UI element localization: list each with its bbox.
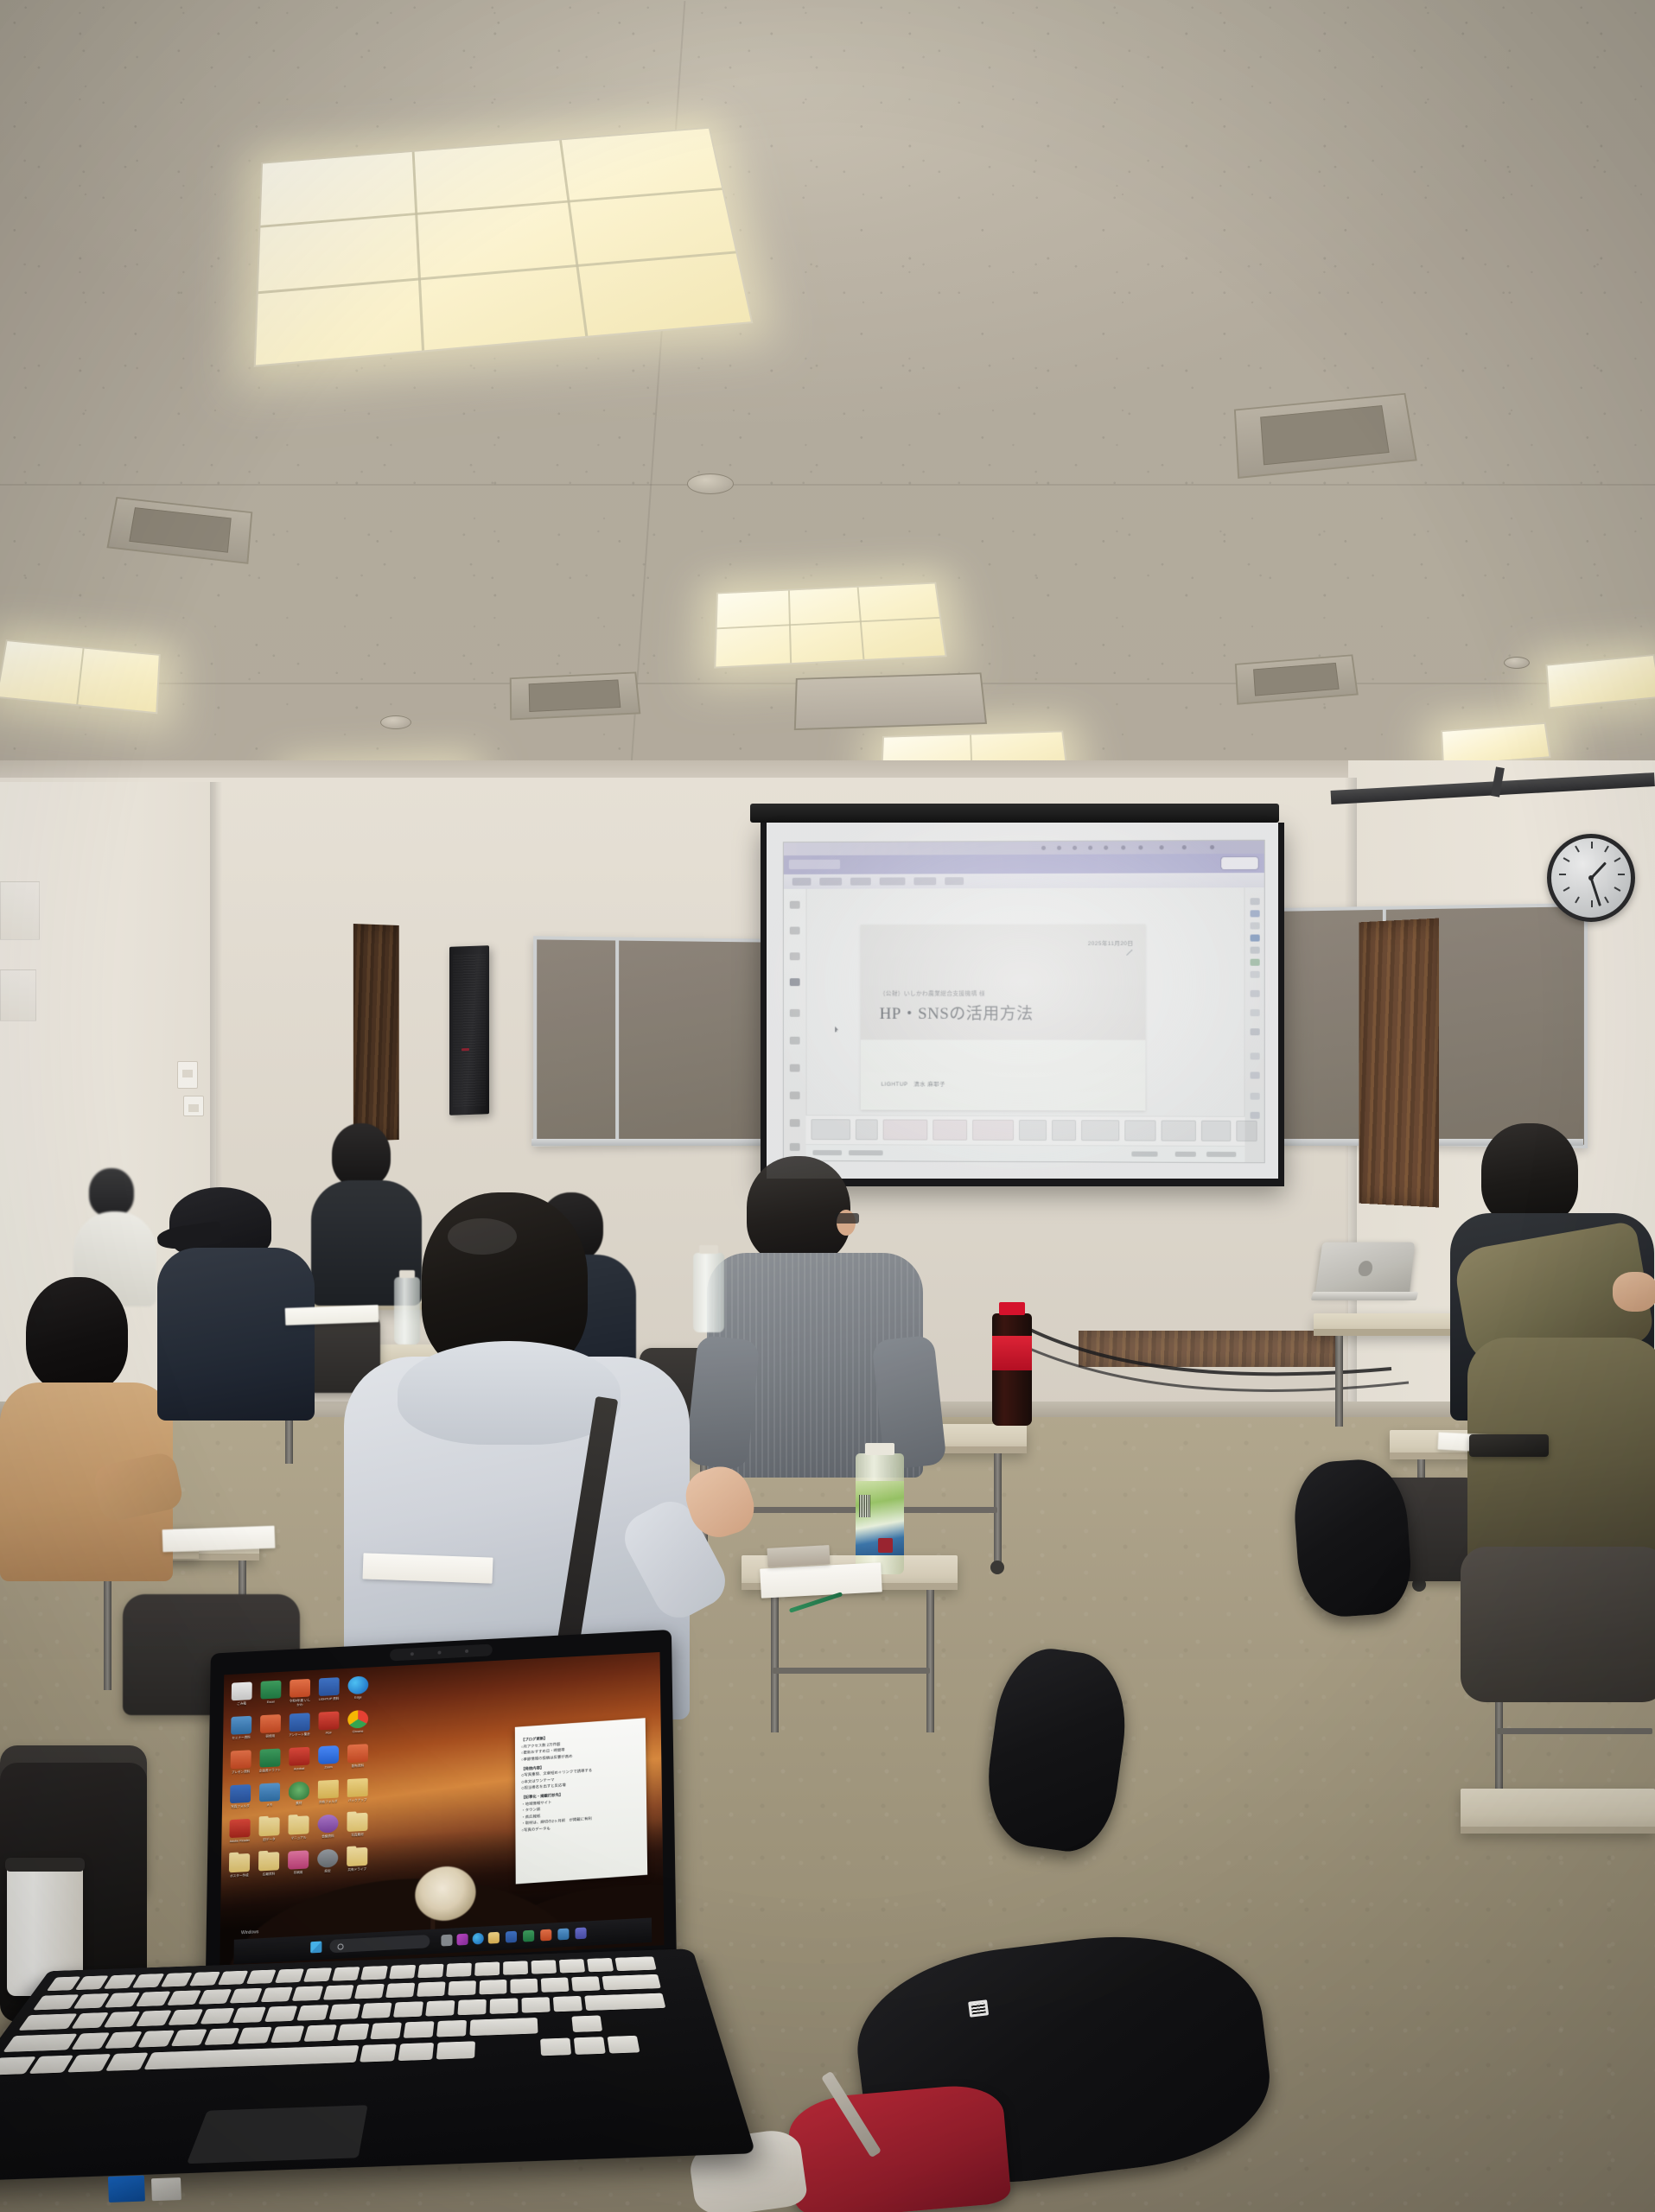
desktop-icon[interactable]: Zoom xyxy=(317,1745,340,1770)
desktop-icon[interactable]: 研修用 xyxy=(259,1714,282,1739)
ribbon-command[interactable] xyxy=(883,1119,928,1140)
powerpoint-logo-badge xyxy=(789,860,840,869)
key[interactable] xyxy=(510,1979,538,1993)
desktop-icon[interactable]: メモ xyxy=(258,1783,281,1808)
thumbnail-icon[interactable] xyxy=(790,901,800,909)
key-enter[interactable] xyxy=(584,1993,665,2011)
desktop-icon-glyph-tree xyxy=(289,1781,309,1800)
key-arrow-up[interactable] xyxy=(571,2015,602,2032)
webcam-lens-icon xyxy=(411,1652,414,1656)
key[interactable] xyxy=(264,2005,297,2022)
desktop-icon[interactable]: PDF xyxy=(317,1711,340,1736)
projection-screen: 2025年11月20日 （公財）いしかわ農業総合支援機構 様 HP・SNSの活用… xyxy=(761,823,1284,1186)
key-alt-right[interactable] xyxy=(360,2044,397,2062)
key[interactable] xyxy=(559,1959,585,1973)
desktop-sticky-note[interactable]: 【ブログ更新】○月アクセス数 2万件超○更新おすすめ日・時間帯○季節情報の投稿は… xyxy=(515,1718,647,1884)
key[interactable] xyxy=(337,2024,370,2041)
key[interactable] xyxy=(541,1977,570,1992)
torso xyxy=(157,1248,315,1421)
desktop-icon-label: PDF xyxy=(317,1731,340,1736)
clock-tick xyxy=(1604,896,1609,903)
webcam-indicator-icon xyxy=(437,1651,441,1655)
ribbon-tab[interactable] xyxy=(792,878,812,886)
key[interactable] xyxy=(136,1992,171,2007)
green-tea-bottle xyxy=(856,1453,904,1574)
key[interactable] xyxy=(404,2021,435,2038)
key[interactable] xyxy=(571,1976,601,1991)
powerpoint-workspace: 2025年11月20日 （公財）いしかわ農業総合支援機構 様 HP・SNSの活用… xyxy=(784,887,1264,1162)
water-bottle-2 xyxy=(394,1277,420,1344)
tool-swatch[interactable] xyxy=(1251,1028,1260,1035)
tool-swatch[interactable] xyxy=(1251,898,1260,905)
tool-swatch[interactable] xyxy=(1251,1009,1260,1016)
key[interactable] xyxy=(161,1973,193,1987)
desktop-icon[interactable]: Adobe Reader xyxy=(228,1819,251,1844)
key[interactable] xyxy=(104,2012,141,2028)
ribbon-command[interactable] xyxy=(1162,1121,1196,1141)
key[interactable] xyxy=(167,1990,201,2005)
ceiling-smoke-detector xyxy=(380,715,411,729)
key[interactable] xyxy=(448,1980,476,1995)
key[interactable] xyxy=(271,2025,304,2043)
presenter-macbook xyxy=(1312,1242,1417,1313)
key[interactable] xyxy=(33,1994,80,2010)
key[interactable] xyxy=(238,2027,272,2044)
desktop-icon-glyph-yellowdoc xyxy=(347,1778,368,1797)
desktop-icon[interactable]: Chrome xyxy=(347,1710,369,1735)
desk-support-rail xyxy=(1497,1728,1652,1734)
clock-tick xyxy=(1604,846,1609,853)
desktop-icon-glyph-ppt xyxy=(260,1714,281,1733)
desktop-icon[interactable]: 写真フォルダ xyxy=(229,1784,251,1809)
status-item xyxy=(849,1150,883,1155)
tab-dot xyxy=(1057,846,1061,850)
mouse-cursor-icon xyxy=(835,1027,838,1033)
key[interactable] xyxy=(417,1964,443,1978)
label-seal xyxy=(878,1538,893,1553)
key[interactable] xyxy=(200,2008,234,2024)
sticky-note-body: 【ブログ更新】○月アクセス数 2万件超○更新おすすめ日・時間帯○季節情報の投稿は… xyxy=(521,1730,641,1834)
desktop-icon-label: 配布資料 xyxy=(347,1764,369,1769)
leg xyxy=(1461,1547,1655,1702)
wall-speaker-column xyxy=(449,945,489,1116)
tab-dot xyxy=(1182,845,1187,849)
key[interactable] xyxy=(425,2000,455,2017)
key[interactable] xyxy=(587,1958,614,1972)
key[interactable] xyxy=(204,2028,239,2045)
key[interactable] xyxy=(490,1998,519,2013)
key-ctrl-right[interactable] xyxy=(436,2041,475,2059)
desktop-icon-glyph-pdf xyxy=(229,1819,250,1838)
clock-tick xyxy=(1563,857,1570,862)
macbook-lid xyxy=(1315,1243,1416,1295)
desktop-icon-label: 素材 xyxy=(288,1801,310,1806)
cola-label xyxy=(992,1336,1032,1370)
desktop-icon[interactable]: マニュアル xyxy=(287,1815,309,1840)
app-icon-teams[interactable] xyxy=(575,1927,586,1939)
windows-watermark: Windows xyxy=(241,1929,259,1935)
ribbon-tabs[interactable] xyxy=(784,873,1264,889)
app-icon-excel[interactable] xyxy=(523,1930,534,1942)
desktop-icon[interactable]: 広報資料 xyxy=(258,1852,280,1877)
desktop-icon-glyph-folder xyxy=(229,1853,250,1872)
desktop-icon[interactable]: 共有ドライブ xyxy=(346,1847,368,1872)
desktop-icon-label: Edge xyxy=(347,1695,369,1700)
ribbon-command[interactable] xyxy=(1201,1121,1231,1141)
ac-vent xyxy=(510,672,641,721)
desk-leg xyxy=(1335,1336,1343,1427)
key-win[interactable] xyxy=(67,2054,111,2072)
desktop-icon[interactable]: Edge xyxy=(347,1675,369,1700)
head xyxy=(26,1277,128,1393)
key[interactable] xyxy=(398,2043,434,2061)
desktop-icon[interactable]: プレゼン資料 xyxy=(229,1750,251,1775)
laptop-screen[interactable]: ごみ箱Excel令和6年度 いしかわLIGHTUP 資料Edgeセミナー資料研修… xyxy=(220,1652,664,1968)
tab-dot xyxy=(1138,845,1143,849)
key-arrow-left[interactable] xyxy=(540,2037,571,2056)
tool-swatch[interactable] xyxy=(1251,990,1260,997)
key[interactable] xyxy=(328,2004,360,2020)
ribbon-command-strip[interactable] xyxy=(806,1115,1245,1147)
hair-highlight xyxy=(448,1218,517,1255)
desktop-icon-glyph-excel xyxy=(260,1681,281,1700)
key[interactable] xyxy=(332,1967,360,1981)
ribbon-command[interactable] xyxy=(1052,1120,1076,1141)
desktop-icon-glyph-zoom xyxy=(318,1745,339,1764)
key-space[interactable] xyxy=(143,2045,359,2069)
ribbon-command[interactable] xyxy=(933,1120,967,1141)
desktop-icon-glyph-yellowdoc xyxy=(318,1780,339,1799)
clock-tick xyxy=(1591,842,1593,849)
clock-tick xyxy=(1563,887,1570,892)
notebook[interactable] xyxy=(767,1545,830,1567)
ribbon-command[interactable] xyxy=(811,1119,850,1140)
key[interactable] xyxy=(323,1985,354,2000)
bottle-cap xyxy=(865,1443,894,1455)
desktop-icon[interactable]: バックアップ xyxy=(347,1778,369,1803)
thumbnail-icon[interactable] xyxy=(790,1065,800,1072)
desktop-icon-glyph-pdf xyxy=(318,1711,339,1730)
hand xyxy=(1613,1272,1655,1312)
desktop-icon-glyph-ppt xyxy=(290,1679,310,1698)
tool-swatch[interactable] xyxy=(1251,935,1260,942)
wall-access-panel xyxy=(0,969,36,1021)
desktop-icon[interactable]: 素材 xyxy=(288,1781,310,1806)
thumbnail-icon-selected[interactable] xyxy=(790,978,800,986)
app-icon-explorer[interactable] xyxy=(488,1932,500,1944)
thumbnail-icon[interactable] xyxy=(790,1009,800,1017)
desktop-icon-glyph-ppt xyxy=(347,1744,368,1763)
tool-swatch[interactable] xyxy=(1251,1071,1260,1078)
slide-presenter: LIGHTUP 清水 麻耶子 xyxy=(882,1080,945,1088)
desktop-icon[interactable]: 配布資料 xyxy=(347,1744,369,1769)
north-face-logo-icon xyxy=(968,1999,989,2018)
desktop-icon[interactable]: ごみ箱 xyxy=(231,1681,253,1706)
desk-support-rail xyxy=(773,1668,930,1674)
handout-paper[interactable] xyxy=(363,1553,493,1583)
laptop-lid: ごみ箱Excel令和6年度 いしかわLIGHTUP 資料Edgeセミナー資料研修… xyxy=(206,1630,678,1999)
desktop-icon-glyph-purple xyxy=(317,1815,338,1834)
key[interactable] xyxy=(261,1987,293,2003)
slide-thumbnail-rail[interactable] xyxy=(784,889,807,1160)
board-chalk-tray xyxy=(532,1139,763,1146)
key[interactable] xyxy=(354,1984,385,1999)
app-icon-mail[interactable] xyxy=(557,1929,569,1941)
powerpoint-title-bar xyxy=(784,854,1264,874)
key-arrow-right[interactable] xyxy=(608,2036,640,2054)
desktop-icon[interactable]: 会議資料 xyxy=(316,1814,339,1839)
wall-access-panel xyxy=(0,881,40,940)
desktop-icon-label: Acrobat xyxy=(288,1766,310,1771)
desktop-icon[interactable]: 令和6年度 いしかわ xyxy=(289,1679,311,1707)
key[interactable] xyxy=(385,1983,415,1999)
key[interactable] xyxy=(521,1997,550,2012)
ribbon-command[interactable] xyxy=(1081,1120,1119,1141)
ribbon-tab[interactable] xyxy=(880,877,906,885)
desktop-icon[interactable]: セミナー資料 xyxy=(230,1716,252,1741)
tool-swatch[interactable] xyxy=(1251,910,1260,917)
desktop-icon[interactable]: 企画書ドラフト xyxy=(258,1748,281,1773)
clock-tick xyxy=(1614,887,1620,892)
light-cell xyxy=(258,251,736,295)
key[interactable] xyxy=(275,1968,304,1983)
clock-tick xyxy=(1618,874,1625,875)
key[interactable] xyxy=(303,2024,337,2042)
label-barcode xyxy=(859,1495,870,1517)
key[interactable] xyxy=(370,2022,402,2039)
tab-dot xyxy=(1104,846,1108,850)
desktop-icon-glyph-blue xyxy=(259,1783,280,1802)
key[interactable] xyxy=(232,2007,266,2024)
desktop-icon-glyph-word xyxy=(290,1713,310,1732)
key[interactable] xyxy=(136,2010,172,2026)
red-bag xyxy=(786,2082,1011,2212)
wood-panel-side xyxy=(353,924,399,1141)
desktop-icon-glyph-folder xyxy=(258,1852,279,1871)
desk-bottom-right xyxy=(1461,1789,1655,1834)
thumbnail-icon[interactable] xyxy=(790,927,800,935)
head xyxy=(332,1123,391,1187)
vent-grille xyxy=(129,507,231,553)
desktop-icon-glyph-folder xyxy=(258,1817,279,1836)
desktop-icon-glyph-gray xyxy=(317,1849,338,1868)
desktop-icon[interactable]: LIGHTUP 資料 xyxy=(318,1677,341,1701)
key[interactable] xyxy=(18,2013,77,2031)
key[interactable] xyxy=(389,1965,416,1980)
tool-swatch[interactable] xyxy=(1251,959,1260,966)
desktop-icon-glyph-folder xyxy=(347,1847,367,1866)
desktop-icon[interactable]: Acrobat xyxy=(288,1747,310,1772)
head xyxy=(1481,1123,1578,1225)
key[interactable] xyxy=(417,1981,445,1997)
webcam-mic-icon xyxy=(465,1649,468,1653)
ceiling-light-panel xyxy=(714,582,947,669)
desktop-icon-label: Chrome xyxy=(347,1729,369,1734)
key-shift-right[interactable] xyxy=(469,2018,538,2036)
thumbnail-icon[interactable] xyxy=(790,952,800,960)
wall-clock xyxy=(1547,834,1635,922)
slide-client-line: （公財）いしかわ農業総合支援機構 様 xyxy=(880,988,985,997)
key[interactable] xyxy=(105,1993,140,2008)
glasses-icon xyxy=(835,1213,859,1224)
tab-dot xyxy=(1121,846,1125,850)
tab-dot xyxy=(1210,845,1214,849)
ribbon-command[interactable] xyxy=(1124,1120,1155,1141)
ribbon-command[interactable] xyxy=(1236,1121,1257,1141)
desktop-icon-glyph-folder xyxy=(347,1813,367,1832)
key[interactable] xyxy=(602,1974,660,1991)
key-arrow-down[interactable] xyxy=(574,2037,606,2055)
desktop-icon-label: セミナー資料 xyxy=(230,1735,252,1740)
key[interactable] xyxy=(296,2005,329,2021)
thumbnail-icon[interactable] xyxy=(790,1119,800,1127)
key[interactable] xyxy=(532,1960,557,1974)
desktop-icon[interactable]: 設定 xyxy=(316,1849,339,1874)
desktop-icon-label: 共有フォルダ xyxy=(317,1799,340,1804)
clock-tick xyxy=(1614,857,1620,862)
ribbon-tab[interactable] xyxy=(850,878,871,886)
desktop-icon[interactable]: ポスター作成 xyxy=(228,1853,251,1878)
key[interactable] xyxy=(553,1996,582,2012)
desk-leg xyxy=(926,1590,934,1732)
tool-swatch[interactable] xyxy=(1251,922,1260,929)
key[interactable] xyxy=(479,1980,506,1994)
windows-sticker xyxy=(151,2177,181,2201)
tool-swatch[interactable] xyxy=(1251,1052,1260,1059)
tool-swatch[interactable] xyxy=(1251,947,1260,954)
desk-edge xyxy=(1461,1827,1655,1834)
desktop-icon-label: 研修用 xyxy=(259,1734,282,1739)
clock-tick xyxy=(1559,874,1566,875)
thumbnail-icon[interactable] xyxy=(790,1143,800,1151)
key-alt[interactable] xyxy=(105,2053,149,2071)
tool-swatch[interactable] xyxy=(1251,1112,1260,1119)
webcam-bar xyxy=(390,1644,493,1662)
wall-switch[interactable] xyxy=(183,1096,204,1116)
key-shift[interactable] xyxy=(3,2034,77,2052)
desktop-icon-glyph-ppt xyxy=(231,1750,251,1769)
zoom-level[interactable] xyxy=(1175,1152,1196,1157)
current-slide[interactable]: 2025年11月20日 （公財）いしかわ農業総合支援機構 様 HP・SNSの活用… xyxy=(861,925,1146,1111)
ceiling-return-vent xyxy=(794,672,987,730)
desktop-icon[interactable]: 共有フォルダ xyxy=(317,1780,340,1805)
ceiling-smoke-detector xyxy=(1504,657,1530,669)
slide-title: HP・SNSの活用方法 xyxy=(880,1001,1034,1024)
ribbon-command[interactable] xyxy=(856,1119,878,1140)
share-button[interactable] xyxy=(1221,857,1257,869)
desktop-icon[interactable]: 旧データ xyxy=(258,1817,280,1842)
key[interactable] xyxy=(457,1999,486,2016)
app-icon-chat[interactable] xyxy=(457,1934,468,1946)
ribbon-command[interactable] xyxy=(1019,1120,1047,1141)
slide-date: 2025年11月20日 xyxy=(1088,938,1134,947)
light-cell xyxy=(76,648,84,704)
tool-swatch[interactable] xyxy=(1251,1093,1260,1100)
pinboard-left xyxy=(533,936,767,1146)
key[interactable] xyxy=(303,1967,332,1982)
tool-swatch[interactable] xyxy=(1251,971,1260,978)
key[interactable] xyxy=(361,2003,392,2019)
ribbon-tab[interactable] xyxy=(913,877,936,885)
resize-handle-icon[interactable] xyxy=(1125,949,1133,957)
light-cell xyxy=(857,588,865,659)
view-buttons[interactable] xyxy=(1206,1152,1236,1157)
desktop-icon-glyph-blue xyxy=(231,1716,251,1735)
start-button-icon[interactable] xyxy=(310,1942,321,1954)
desktop-icon[interactable]: Excel xyxy=(259,1681,282,1705)
desktop-icon-label: 令和6年度 いしかわ xyxy=(289,1698,311,1707)
clock-center-cap xyxy=(1588,875,1594,880)
key[interactable] xyxy=(171,2029,207,2046)
ribbon-tab[interactable] xyxy=(945,877,964,885)
key[interactable] xyxy=(137,2031,175,2048)
bottle-cap xyxy=(699,1245,718,1254)
apple-logo-icon xyxy=(1358,1261,1373,1276)
key[interactable] xyxy=(132,1974,164,1988)
key[interactable] xyxy=(360,1966,388,1980)
key[interactable] xyxy=(168,2009,203,2025)
key[interactable] xyxy=(436,2020,467,2037)
key[interactable] xyxy=(198,1989,232,2005)
desktop-icon[interactable]: 印刷用 xyxy=(287,1850,309,1875)
key[interactable] xyxy=(246,1970,277,1985)
desktop-icon[interactable]: 写真素材 xyxy=(346,1813,368,1838)
app-icon-powerpoint[interactable] xyxy=(540,1929,551,1942)
light-cell xyxy=(559,140,588,336)
key[interactable] xyxy=(292,1986,324,2001)
laptop-keyboard[interactable] xyxy=(0,1948,756,2183)
pencil-case xyxy=(1469,1434,1549,1457)
light-cell xyxy=(788,591,792,664)
desktop-icon-label: プレゼン資料 xyxy=(229,1770,251,1775)
app-icon-word[interactable] xyxy=(506,1931,517,1943)
app-icon-edge[interactable] xyxy=(473,1933,484,1945)
desktop-icon[interactable]: アンケート集計 xyxy=(289,1713,311,1738)
projector-screen-case xyxy=(750,804,1279,823)
desk-caster xyxy=(990,1560,1004,1574)
wall-outlet[interactable] xyxy=(177,1061,198,1089)
tab-dot xyxy=(1160,845,1164,849)
tab-dot xyxy=(1041,846,1046,850)
taskbar-search-box[interactable] xyxy=(329,1935,430,1953)
key[interactable] xyxy=(614,1956,656,1971)
ribbon-command[interactable] xyxy=(972,1120,1014,1141)
handout-paper[interactable] xyxy=(162,1526,276,1553)
key[interactable] xyxy=(105,2031,143,2049)
desktop-icon-label: 写真フォルダ xyxy=(229,1804,251,1809)
vent-grille xyxy=(1260,405,1389,464)
handout-paper[interactable] xyxy=(285,1305,379,1325)
task-view-icon[interactable] xyxy=(441,1935,452,1947)
key[interactable] xyxy=(474,1961,500,1975)
key[interactable] xyxy=(503,1961,528,1974)
desktop-icon-glyph-chrome xyxy=(347,1710,368,1729)
key[interactable] xyxy=(218,1971,248,1986)
ribbon-tab[interactable] xyxy=(819,878,842,886)
key[interactable] xyxy=(446,1963,472,1977)
desktop-icon-label: バックアップ xyxy=(347,1798,369,1803)
thumbnail-icon[interactable] xyxy=(790,1037,800,1045)
desktop-icon-glyph-white xyxy=(232,1681,252,1700)
key[interactable] xyxy=(393,2001,423,2018)
key[interactable] xyxy=(189,1972,220,1986)
touchpad[interactable] xyxy=(187,2105,368,2164)
key[interactable] xyxy=(229,1988,262,2004)
thumbnail-icon[interactable] xyxy=(790,1091,800,1099)
fujitsu-laptop[interactable]: ごみ箱Excel令和6年度 いしかわLIGHTUP 資料Edgeセミナー資料研修… xyxy=(38,1630,715,2212)
desktop-icon-glyph-word xyxy=(230,1784,251,1803)
bottle-cap xyxy=(399,1270,415,1278)
